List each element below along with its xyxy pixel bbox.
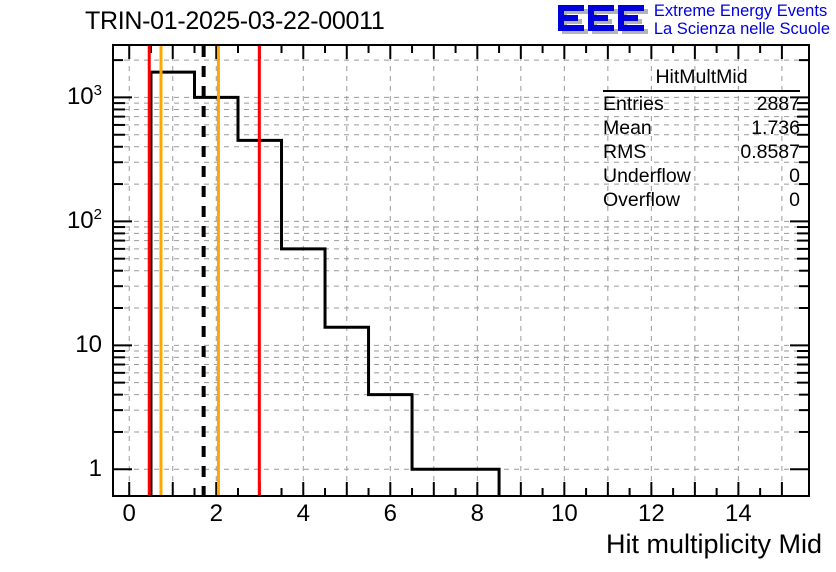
y-tick-label-1: 1	[10, 455, 102, 483]
root-canvas: TRIN-01-2025-03-22-00011	[0, 0, 836, 572]
stats-box: HitMultMid Entries2887Mean1.736RMS0.8587…	[603, 66, 800, 212]
stats-key: RMS	[603, 141, 646, 164]
stats-value: 2887	[757, 93, 800, 116]
stats-row: Overflow0	[603, 188, 800, 212]
y-tick-label-100: 102	[10, 207, 102, 235]
stats-key: Overflow	[603, 189, 680, 212]
stats-key: Entries	[603, 93, 664, 116]
stats-key: Underflow	[603, 165, 691, 188]
stats-value: 0	[789, 165, 800, 188]
x-tick-label-6: 6	[384, 500, 397, 528]
stats-row: Entries2887	[603, 92, 800, 116]
x-tick-label-4: 4	[297, 500, 310, 528]
x-tick-label-12: 12	[638, 500, 665, 528]
y-tick-label-1000: 103	[10, 83, 102, 111]
stats-value: 0.8587	[740, 141, 800, 164]
stats-value: 1.736	[751, 117, 800, 140]
x-tick-label-0: 0	[123, 500, 136, 528]
x-tick-label-10: 10	[551, 500, 578, 528]
x-tick-label-2: 2	[210, 500, 223, 528]
stats-value: 0	[789, 189, 800, 212]
stats-row: Underflow0	[603, 164, 800, 188]
stats-title: HitMultMid	[603, 66, 800, 92]
stats-key: Mean	[603, 117, 652, 140]
x-tick-label-14: 14	[725, 500, 752, 528]
stats-row: Mean1.736	[603, 116, 800, 140]
y-tick-label-10: 10	[10, 331, 102, 359]
x-axis-title: Hit multiplicity Mid	[606, 529, 822, 560]
x-tick-label-8: 8	[471, 500, 484, 528]
stats-row: RMS0.8587	[603, 140, 800, 164]
